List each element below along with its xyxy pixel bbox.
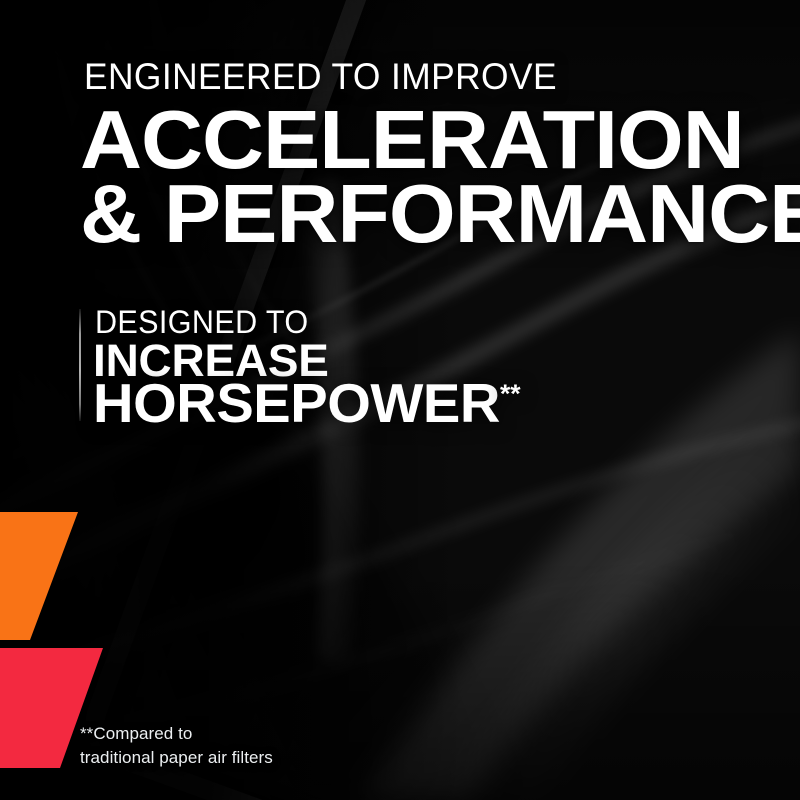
sub-headline-line-2: HORSEPOWER**	[93, 376, 521, 431]
footnote-line-2: traditional paper air filters	[80, 746, 273, 770]
footnote-marker: **	[500, 379, 521, 409]
headline-line-2: & PERFORMANCE	[80, 176, 800, 252]
copy-layer: ENGINEERED TO IMPROVE ACCELERATION & PER…	[0, 0, 800, 800]
footnote: **Compared to traditional paper air filt…	[80, 722, 273, 770]
headline-eyebrow: ENGINEERED TO IMPROVE	[84, 58, 557, 95]
footnote-line-1: **Compared to	[80, 722, 273, 746]
sub-eyebrow: DESIGNED TO	[95, 306, 308, 338]
sub-headline-line-2-text: HORSEPOWER	[93, 372, 500, 434]
section-divider-rule	[79, 309, 81, 421]
advertisement-canvas: ENGINEERED TO IMPROVE ACCELERATION & PER…	[0, 0, 800, 800]
